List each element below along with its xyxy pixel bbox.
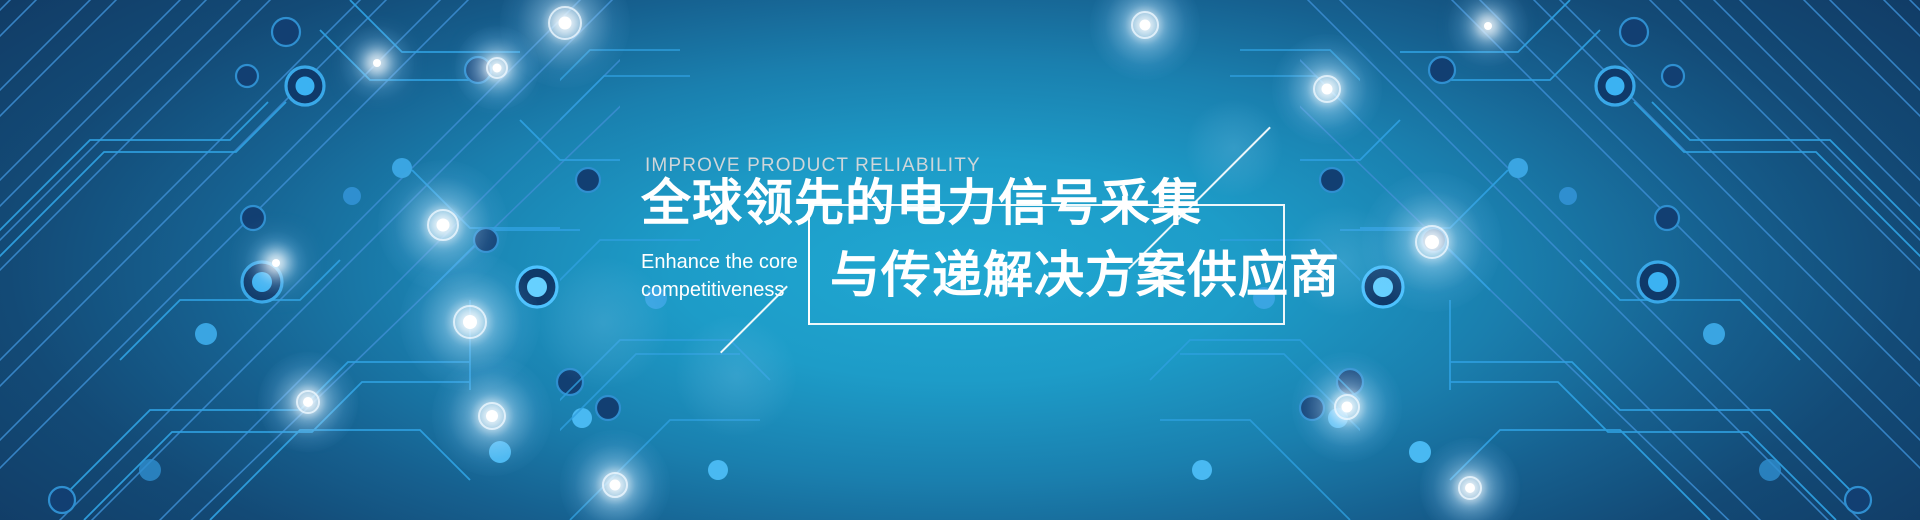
banner-eyebrow-text: IMPROVE PRODUCT RELIABILITY — [645, 155, 981, 177]
banner-headline-line-1: 全球领先的电力信号采集 — [641, 178, 1202, 228]
hero-text-block: IMPROVE PRODUCT RELIABILITY 全球领先的电力信号采集 … — [0, 0, 1920, 520]
banner-subtitle-english: Enhance the core competitiveness — [641, 248, 816, 305]
banner-headline-line-2: 与传递解决方案供应商 — [830, 250, 1340, 300]
hero-banner: IMPROVE PRODUCT RELIABILITY 全球领先的电力信号采集 … — [0, 0, 1920, 520]
